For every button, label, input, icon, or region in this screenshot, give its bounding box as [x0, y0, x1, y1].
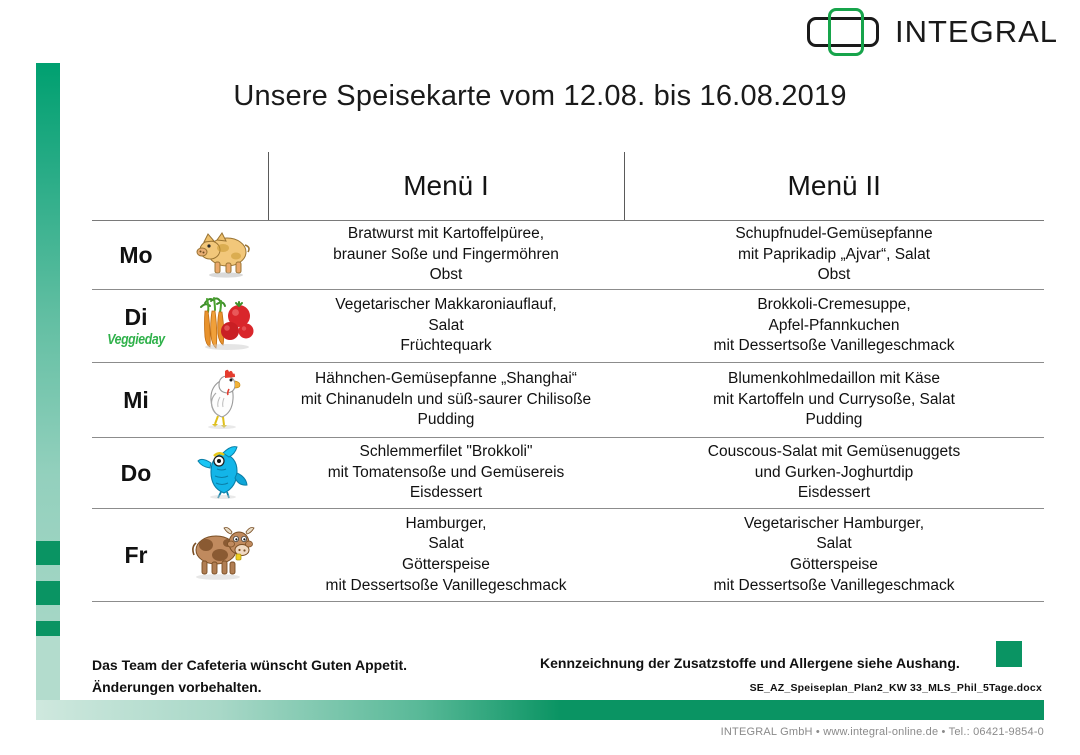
menu-line: Vegetarischer Hamburger, — [624, 514, 1044, 535]
header-icon-col — [180, 152, 268, 221]
menu-line: Obst — [268, 265, 624, 286]
menu1-cell-di: Vegetarischer Makkaroniauflauf, Salat Fr… — [268, 290, 624, 363]
left-accent-block-2 — [36, 581, 60, 605]
menu-line: Salat — [624, 534, 1044, 555]
day-icon-cell-di — [180, 290, 268, 363]
footer-team-line-1: Das Team der Cafeteria wünscht Guten App… — [92, 655, 407, 677]
menu-line: Brokkoli-Cremesuppe, — [624, 295, 1044, 316]
day-icon-cell-do — [180, 438, 268, 509]
day-abbr: Fr — [125, 542, 148, 568]
table-row: Mo — [92, 221, 1044, 290]
menu-line: Götterspeise — [624, 555, 1044, 576]
pig-icon — [193, 228, 255, 278]
menu-line: mit Dessertsoße Vanillegeschmack — [624, 576, 1044, 597]
menu-line: Hamburger, — [268, 514, 624, 535]
footer-company-info: INTEGRAL GmbH • www.integral-online.de •… — [721, 726, 1044, 738]
footer-accent-square — [996, 641, 1022, 667]
menu-line: Couscous-Salat mit Gemüsenuggets — [624, 442, 1044, 463]
menu2-cell-fr: Vegetarischer Hamburger, Salat Götterspe… — [624, 509, 1044, 602]
menu-line: mit Kartoffeln und Currysoße, Salat — [624, 390, 1044, 411]
menu-line: Schupfnudel-Gemüsepfanne — [624, 224, 1044, 245]
veggieday-badge: Veggieday — [100, 332, 172, 348]
header-day-col — [92, 152, 180, 221]
day-abbr: Do — [121, 460, 152, 486]
menu2-cell-do: Couscous-Salat mit Gemüsenuggets und Gur… — [624, 438, 1044, 509]
menu-line: mit Paprikadip „Ajvar“, Salat — [624, 245, 1044, 266]
footer-file-name: SE_AZ_Speiseplan_Plan2_KW 33_MLS_Phil_5T… — [750, 682, 1042, 694]
integral-logo-mark-icon — [807, 8, 885, 56]
day-abbr: Mi — [123, 387, 149, 413]
menu-line: brauner Soße und Fingermöhren — [268, 245, 624, 266]
day-abbr: Di — [125, 304, 148, 330]
day-icon-cell-mi — [180, 363, 268, 438]
menu-line: mit Dessertsoße Vanillegeschmack — [268, 576, 624, 597]
day-abbr: Mo — [119, 242, 152, 268]
menu-line: Salat — [268, 316, 624, 337]
left-accent-block-1 — [36, 541, 60, 565]
menu-line: mit Dessertsoße Vanillegeschmack — [624, 336, 1044, 357]
menu-line: Pudding — [624, 410, 1044, 431]
menu1-cell-mi: Hähnchen-Gemüsepfanne „Shanghai“ mit Chi… — [268, 363, 624, 438]
menu-line: Eisdessert — [624, 483, 1044, 504]
menu-line: Vegetarischer Makkaroniauflauf, — [268, 295, 624, 316]
day-label-mi: Mi — [92, 363, 180, 438]
day-icon-cell-mo — [180, 221, 268, 290]
menu-line: Obst — [624, 265, 1044, 286]
menu-line: und Gurken-Joghurtdip — [624, 463, 1044, 484]
chicken-icon — [196, 367, 252, 429]
menu-line: Schlemmerfilet "Brokkoli" — [268, 442, 624, 463]
menu-line: Götterspeise — [268, 555, 624, 576]
menu-line: Salat — [268, 534, 624, 555]
table-row: Di Veggieday — [92, 290, 1044, 363]
logo-rect-green-icon — [828, 8, 864, 56]
header-menu-2: Menü II — [624, 152, 1044, 221]
menu-line: Früchtequark — [268, 336, 624, 357]
logo-wordmark: INTEGRAL — [895, 14, 1058, 50]
fish-icon — [193, 443, 255, 499]
menu-line: Blumenkohlmedaillon mit Käse — [624, 369, 1044, 390]
footer-gradient-bar — [36, 700, 1044, 720]
menu2-cell-di: Brokkoli-Cremesuppe, Apfel-Pfannkuchen m… — [624, 290, 1044, 363]
menu-line: Bratwurst mit Kartoffelpüree, — [268, 224, 624, 245]
footer-team-note: Das Team der Cafeteria wünscht Guten App… — [92, 655, 407, 698]
table-row: Mi — [92, 363, 1044, 438]
menu-line: mit Chinanudeln und süß-saurer Chilisoße — [268, 390, 624, 411]
day-label-fr: Fr — [92, 509, 180, 602]
menu2-cell-mo: Schupfnudel-Gemüsepfanne mit Paprikadip … — [624, 221, 1044, 290]
menu-table: Menü I Menü II Mo — [92, 152, 1044, 602]
brand-logo: INTEGRAL — [807, 8, 1058, 56]
menu1-cell-do: Schlemmerfilet "Brokkoli" mit Tomatensoß… — [268, 438, 624, 509]
cow-icon — [188, 523, 260, 583]
menu-line: mit Tomatensoße und Gemüsereis — [268, 463, 624, 484]
table-row: Do — [92, 438, 1044, 509]
vegetables-icon — [191, 295, 257, 353]
table-header-row: Menü I Menü II — [92, 152, 1044, 221]
header-menu-1: Menü I — [268, 152, 624, 221]
menu2-cell-mi: Blumenkohlmedaillon mit Käse mit Kartoff… — [624, 363, 1044, 438]
day-label-do: Do — [92, 438, 180, 509]
footer-allergen-note: Kennzeichnung der Zusatzstoffe und Aller… — [540, 655, 960, 671]
day-icon-cell-fr — [180, 509, 268, 602]
menu-line: Eisdessert — [268, 483, 624, 504]
page-title: Unsere Speisekarte vom 12.08. bis 16.08.… — [0, 80, 1080, 113]
menu-line: Apfel-Pfannkuchen — [624, 316, 1044, 337]
day-label-di: Di Veggieday — [92, 290, 180, 363]
footer-team-line-2: Änderungen vorbehalten. — [92, 677, 407, 699]
menu1-cell-fr: Hamburger, Salat Götterspeise mit Desser… — [268, 509, 624, 602]
menu1-cell-mo: Bratwurst mit Kartoffelpüree, brauner So… — [268, 221, 624, 290]
day-label-mo: Mo — [92, 221, 180, 290]
menu-line: Hähnchen-Gemüsepfanne „Shanghai“ — [268, 369, 624, 390]
table-row: Fr — [92, 509, 1044, 602]
menu-line: Pudding — [268, 410, 624, 431]
